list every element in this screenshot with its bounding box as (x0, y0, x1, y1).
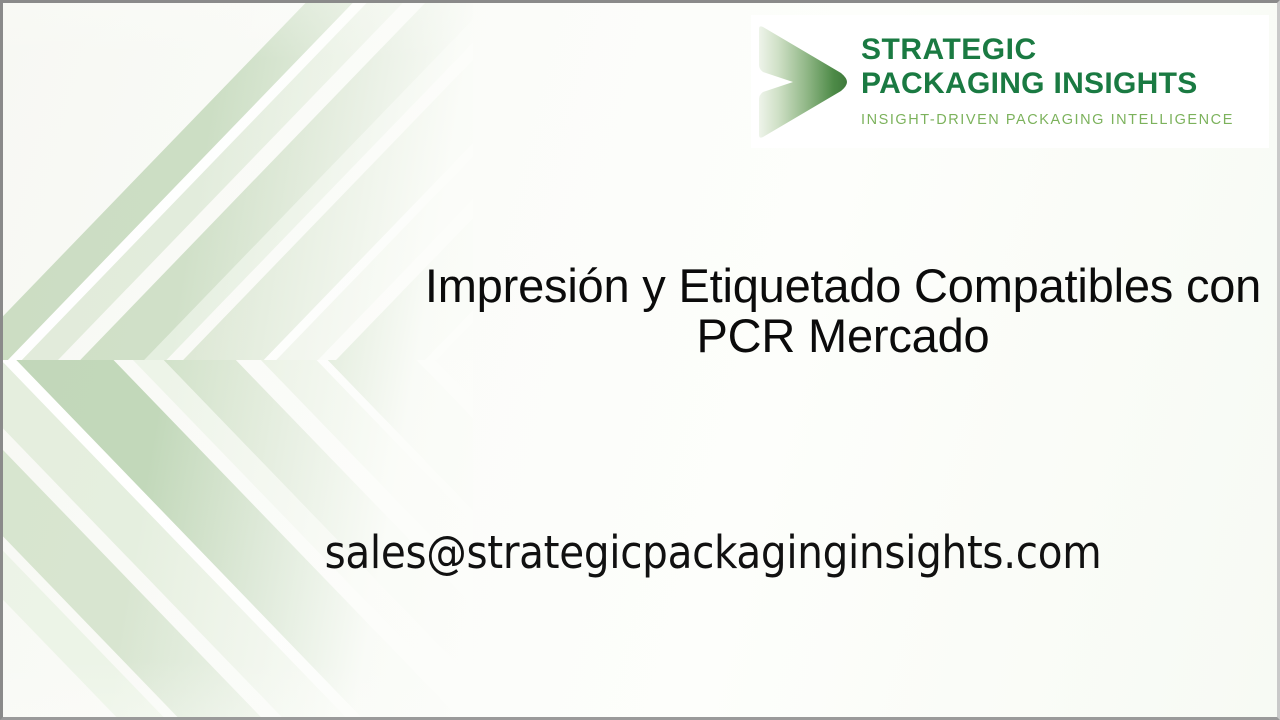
company-logo: STRATEGIC PACKAGING INSIGHTS INSIGHT-DRI… (751, 15, 1269, 148)
contact-email[interactable]: sales@strategicpackaginginsights.com (163, 526, 1263, 580)
presentation-slide: STRATEGIC PACKAGING INSIGHTS INSIGHT-DRI… (0, 0, 1280, 720)
slide-title: Impresión y Etiquetado Compatibles con P… (423, 261, 1263, 361)
logo-wordmark: STRATEGIC PACKAGING INSIGHTS INSIGHT-DRI… (861, 35, 1234, 128)
logo-line-1: STRATEGIC (861, 35, 1234, 65)
logo-line-2: PACKAGING INSIGHTS (861, 69, 1234, 99)
chevron-right-icon (755, 23, 847, 141)
logo-tagline: INSIGHT-DRIVEN PACKAGING INTELLIGENCE (861, 112, 1234, 128)
